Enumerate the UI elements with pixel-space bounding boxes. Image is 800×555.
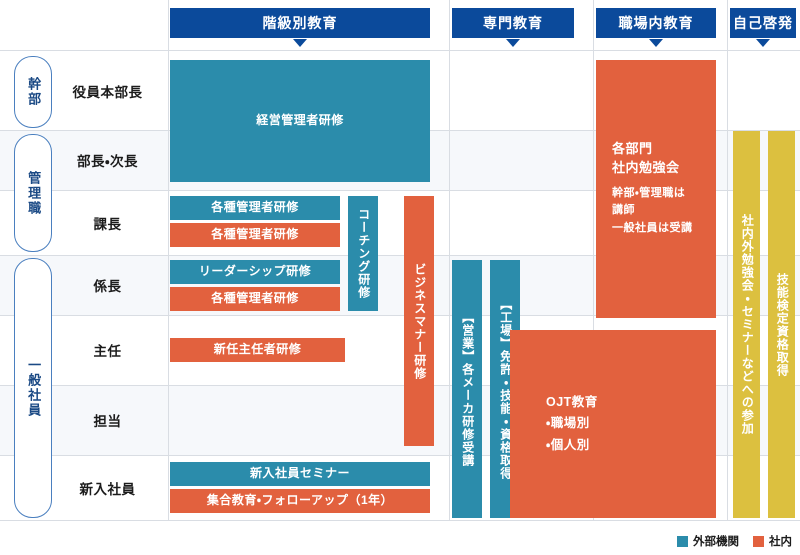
- education-matrix-diagram: 階級別教育専門教育職場内教育自己啓発幹部管理職一般社員役員本部長部長・次長課長係…: [0, 0, 800, 555]
- rank-bracket-1: 管理職: [14, 134, 52, 252]
- group-header-label: 専門教育: [483, 13, 543, 33]
- grid-row-line-7: [0, 520, 800, 521]
- role-label-0: 役員本部長: [55, 51, 160, 130]
- legend-swatch-orange: [753, 536, 764, 547]
- legend-item-0: 外部機関: [677, 533, 739, 549]
- block-ojt-kyoiku[interactable]: OJT教育・職場別・個人別: [510, 330, 716, 518]
- block-subtext: 幹部・管理職は講師一般社員は受講: [612, 185, 693, 238]
- legend-label: 外部機関: [693, 533, 739, 549]
- legend: 外部機関社内: [677, 533, 792, 549]
- group-header-3: 自己啓発: [730, 8, 796, 38]
- legend-swatch-teal: [677, 536, 688, 547]
- legend-label: 社内: [769, 533, 792, 549]
- group-header-1: 専門教育: [452, 8, 574, 38]
- role-label-1: 部長・次長: [55, 130, 160, 190]
- block-kakubumon-shanai-benkyokai[interactable]: 各部門社内勉強会幹部・管理職は講師一般社員は受講: [596, 60, 716, 318]
- block-text-wrap: 各部門社内勉強会幹部・管理職は講師一般社員は受講: [612, 140, 693, 237]
- role-label-3: 係長: [55, 255, 160, 315]
- block-kakushu-kanrisha-kenshu-kacho-teal[interactable]: 各種管理者研修: [170, 196, 340, 220]
- block-kakushu-kanrisha-kenshu-kakaricho[interactable]: 各種管理者研修: [170, 287, 340, 311]
- role-label-5: 担当: [55, 385, 160, 455]
- role-label-6: 新入社員: [55, 455, 160, 520]
- block-shinnyu-shain-seminar[interactable]: 新入社員セミナー: [170, 462, 430, 486]
- group-caret-icon-0: [293, 39, 307, 47]
- block-business-manner-kenshu[interactable]: ビジネスマナー研修: [404, 196, 434, 446]
- group-header-label: 階級別教育: [263, 13, 338, 33]
- role-label-4: 主任: [55, 315, 160, 385]
- group-header-2: 職場内教育: [596, 8, 716, 38]
- group-header-label: 職場内教育: [619, 13, 694, 33]
- block-ginou-kentei-shikaku-shutoku[interactable]: 技能検定資格取得: [768, 131, 795, 518]
- block-lines: OJT教育・職場別・個人別: [546, 392, 598, 456]
- block-title-2: 社内勉強会: [612, 159, 693, 178]
- group-header-0: 階級別教育: [170, 8, 430, 38]
- grid-col-line-3: [727, 0, 728, 521]
- grid-col-line-0: [168, 0, 169, 521]
- block-coaching-kenshu[interactable]: コーチング研修: [348, 196, 378, 311]
- group-caret-icon-1: [506, 39, 520, 47]
- block-kakushu-kanrisha-kenshu-kacho-orange[interactable]: 各種管理者研修: [170, 223, 340, 247]
- block-shugo-kyoiku-followup[interactable]: 集合教育・フォローアップ（1年）: [170, 489, 430, 513]
- block-title: 各部門: [612, 140, 693, 159]
- group-caret-icon-3: [756, 39, 770, 47]
- role-label-2: 課長: [55, 190, 160, 255]
- block-leadership-kenshu[interactable]: リーダーシップ研修: [170, 260, 340, 284]
- block-shinnin-shuninsha-kenshu[interactable]: 新任主任者研修: [170, 338, 345, 362]
- grid-col-line-1: [449, 0, 450, 521]
- rank-bracket-0: 幹部: [14, 56, 52, 128]
- block-keiei-kanrisha-kenshu[interactable]: 経営管理者研修: [170, 60, 430, 182]
- rank-bracket-2: 一般社員: [14, 258, 52, 518]
- group-header-label: 自己啓発: [733, 13, 793, 33]
- group-caret-icon-2: [649, 39, 663, 47]
- legend-item-1: 社内: [753, 533, 792, 549]
- block-shanaigai-benkyokai-seminar[interactable]: 社内外勉強会・セミナーなどへの参加: [733, 131, 760, 518]
- block-eigyo-maker-kenshu[interactable]: 【営業】各メーカ研修受講: [452, 260, 482, 518]
